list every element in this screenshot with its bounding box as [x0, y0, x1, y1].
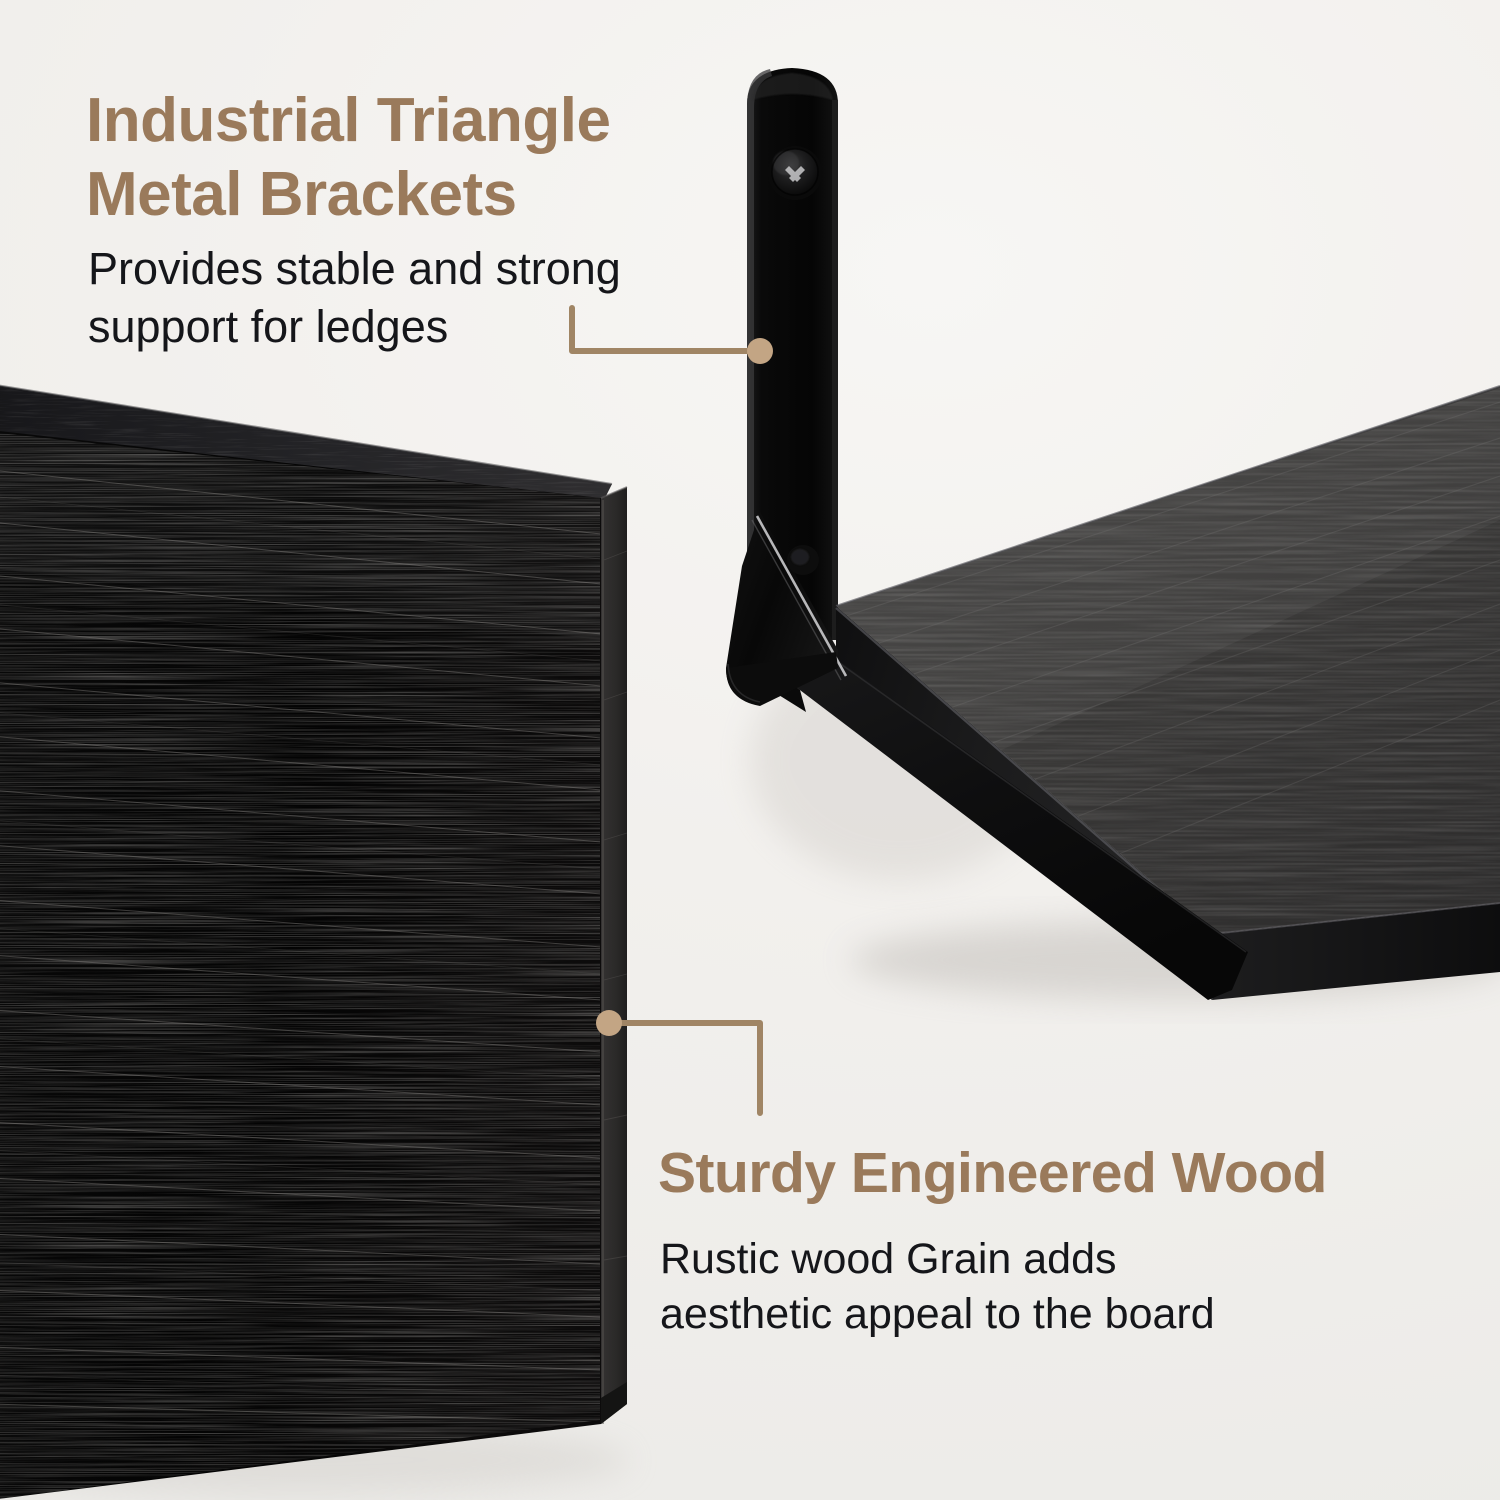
callout-title-wood: Sturdy Engineered Wood: [658, 1140, 1327, 1206]
infographic-canvas: Industrial Triangle Metal Brackets Provi…: [0, 0, 1500, 1500]
leader-dot: [747, 338, 773, 364]
callout-subtitle-wood: Rustic wood Grain adds aesthetic appeal …: [660, 1232, 1215, 1342]
leader-line-wood: [596, 1010, 760, 1113]
leader-dot: [596, 1010, 622, 1036]
callout-subtitle-brackets: Provides stable and strong support for l…: [88, 240, 621, 356]
callout-title-brackets: Industrial Triangle Metal Brackets: [86, 84, 611, 232]
